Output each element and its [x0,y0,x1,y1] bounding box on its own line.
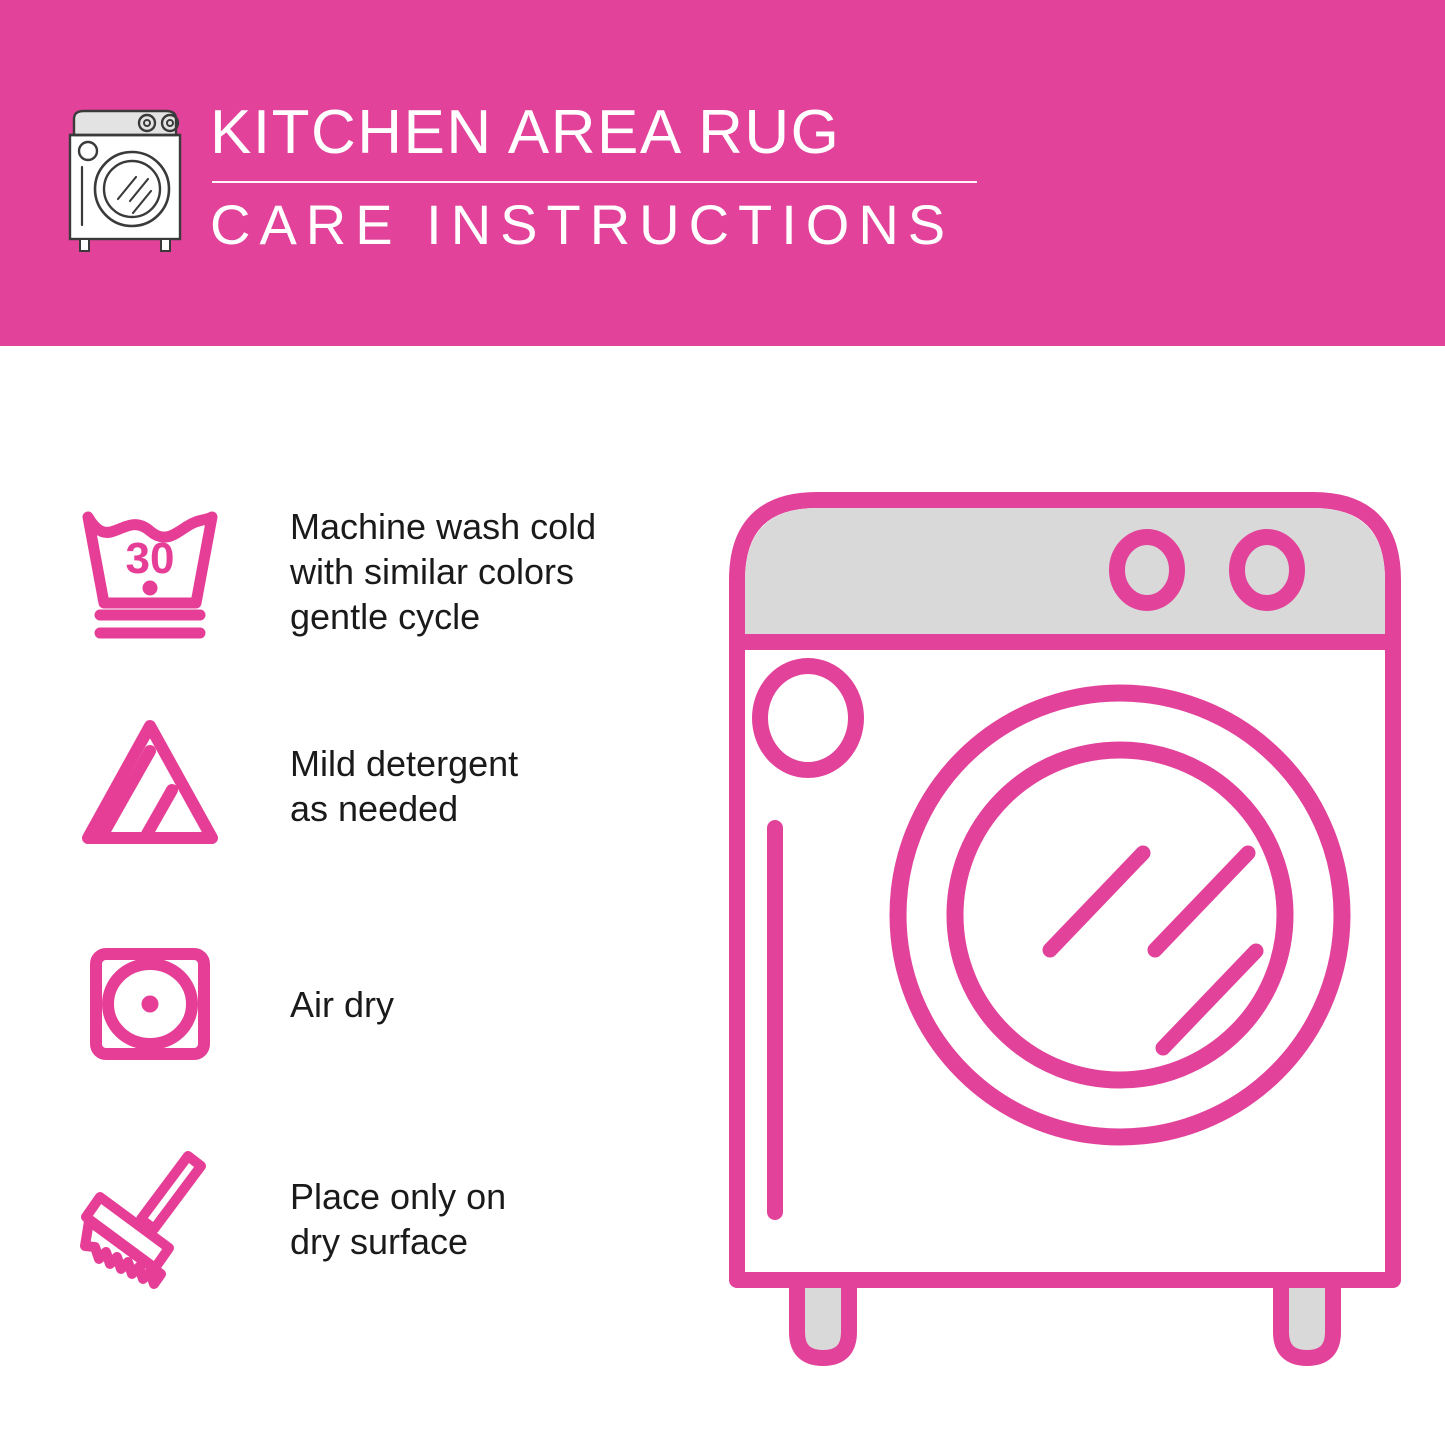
care-instruction-list: 30 Machine wash cold with similar colors… [0,346,680,1445]
care-instructions-page: KITCHEN AREA RUG CARE INSTRUCTIONS 30 [0,0,1445,1445]
care-item-label: Mild detergent as needed [290,741,518,831]
care-item-label: Machine wash cold with similar colors ge… [290,504,596,639]
care-item-machine-wash: 30 Machine wash cold with similar colors… [70,486,630,656]
broom-icon [70,1139,230,1299]
leg-right [1281,1280,1333,1358]
front-load-washing-machine-illustration [715,470,1415,1370]
care-item-mild-detergent: Mild detergent as needed [70,701,630,871]
care-item-label: Place only on dry surface [290,1174,506,1264]
page-header: KITCHEN AREA RUG CARE INSTRUCTIONS [0,0,1445,346]
care-item-dry-surface: Place only on dry surface [70,1134,630,1304]
header-text-block: KITCHEN AREA RUG CARE INSTRUCTIONS [210,96,1070,258]
wash-temperature-value: 30 [126,534,175,583]
care-item-air-dry: Air dry [70,919,630,1089]
page-subtitle: CARE INSTRUCTIONS [210,192,1070,258]
page-title: KITCHEN AREA RUG [210,96,1070,170]
triangle-bleach-icon [70,706,230,866]
wash-tub-30-icon: 30 [70,491,230,651]
washing-machine-icon [60,103,190,253]
leg-left [797,1280,849,1358]
tumble-dry-square-icon [70,924,230,1084]
title-divider [212,181,977,183]
care-item-label: Air dry [290,982,394,1027]
